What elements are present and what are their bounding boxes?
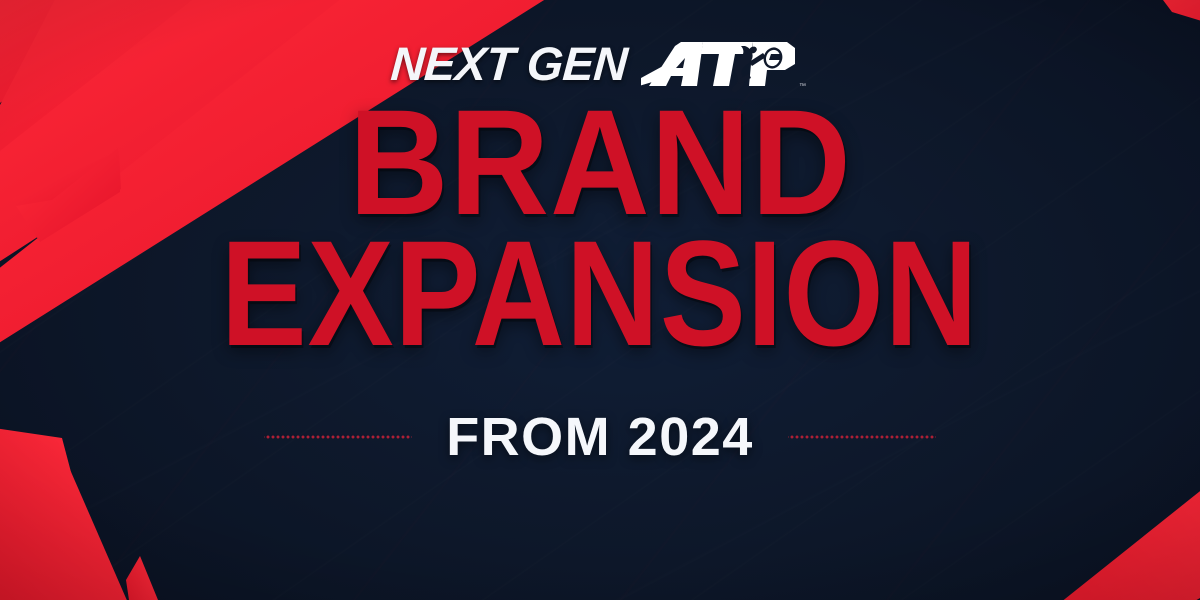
from-2024-label: FROM 2024 — [446, 410, 754, 464]
dotted-rule-right — [788, 435, 936, 439]
banner-content: NEXT GEN — [0, 0, 1200, 600]
headline-line-brand: BRAND — [349, 98, 852, 227]
headline-block: BRAND EXPANSION — [159, 98, 1040, 358]
next-gen-atp-brand-expansion-banner: NEXT GEN — [0, 0, 1200, 600]
footer-row: FROM 2024 — [0, 410, 1200, 464]
headline-line-expansion: EXPANSION — [221, 229, 979, 358]
dotted-rule-left — [264, 435, 412, 439]
